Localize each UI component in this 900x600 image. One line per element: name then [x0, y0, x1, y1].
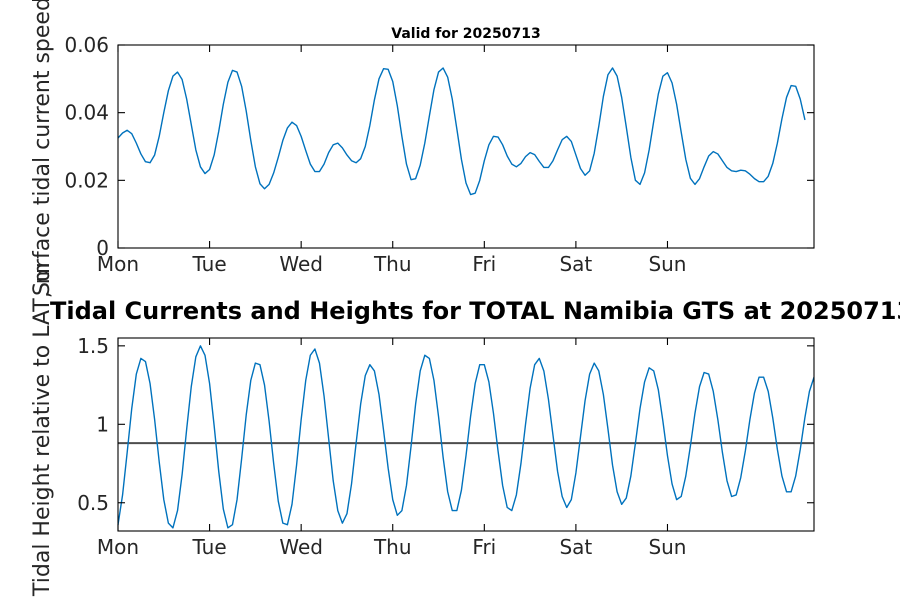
ytick-label-tidal-current-speed-1: 0.02	[64, 168, 109, 192]
xtick-label-tidal-height-0: Mon	[97, 535, 139, 559]
plot-canvas: 00.020.040.06MonTueWedThuFriSatSun0.511.…	[0, 0, 900, 600]
ytick-label-tidal-current-speed-3: 0.06	[64, 33, 109, 57]
xtick-label-tidal-height-3: Thu	[373, 535, 412, 559]
ytick-label-tidal-current-speed-2: 0.04	[64, 101, 109, 125]
xtick-label-tidal-current-speed-3: Thu	[373, 252, 412, 276]
ytick-label-tidal-height-2: 1.5	[77, 334, 109, 358]
axes-tidal-height: 0.511.5MonTueWedThuFriSatSun	[77, 334, 814, 559]
data-series-0-tidal-height	[118, 346, 814, 528]
figure-root: Surface tidal current speed, kn Tidal He…	[0, 0, 900, 600]
axes-box-tidal-current-speed	[118, 45, 814, 248]
xtick-label-tidal-current-speed-4: Fri	[472, 252, 496, 276]
axes-tidal-current-speed: 00.020.040.06MonTueWedThuFriSatSun	[64, 33, 814, 276]
xtick-label-tidal-height-6: Sun	[648, 535, 686, 559]
xtick-label-tidal-current-speed-6: Sun	[648, 252, 686, 276]
xtick-label-tidal-height-1: Tue	[191, 535, 226, 559]
xtick-label-tidal-current-speed-0: Mon	[97, 252, 139, 276]
xtick-label-tidal-current-speed-2: Wed	[279, 252, 323, 276]
ytick-label-tidal-height-1: 1	[96, 412, 109, 436]
xtick-label-tidal-height-5: Sat	[559, 535, 592, 559]
xtick-label-tidal-current-speed-1: Tue	[191, 252, 226, 276]
xtick-label-tidal-current-speed-5: Sat	[559, 252, 592, 276]
xtick-label-tidal-height-2: Wed	[279, 535, 323, 559]
ytick-label-tidal-height-0: 0.5	[77, 491, 109, 515]
data-series-0-tidal-current-speed	[118, 68, 805, 195]
xtick-label-tidal-height-4: Fri	[472, 535, 496, 559]
